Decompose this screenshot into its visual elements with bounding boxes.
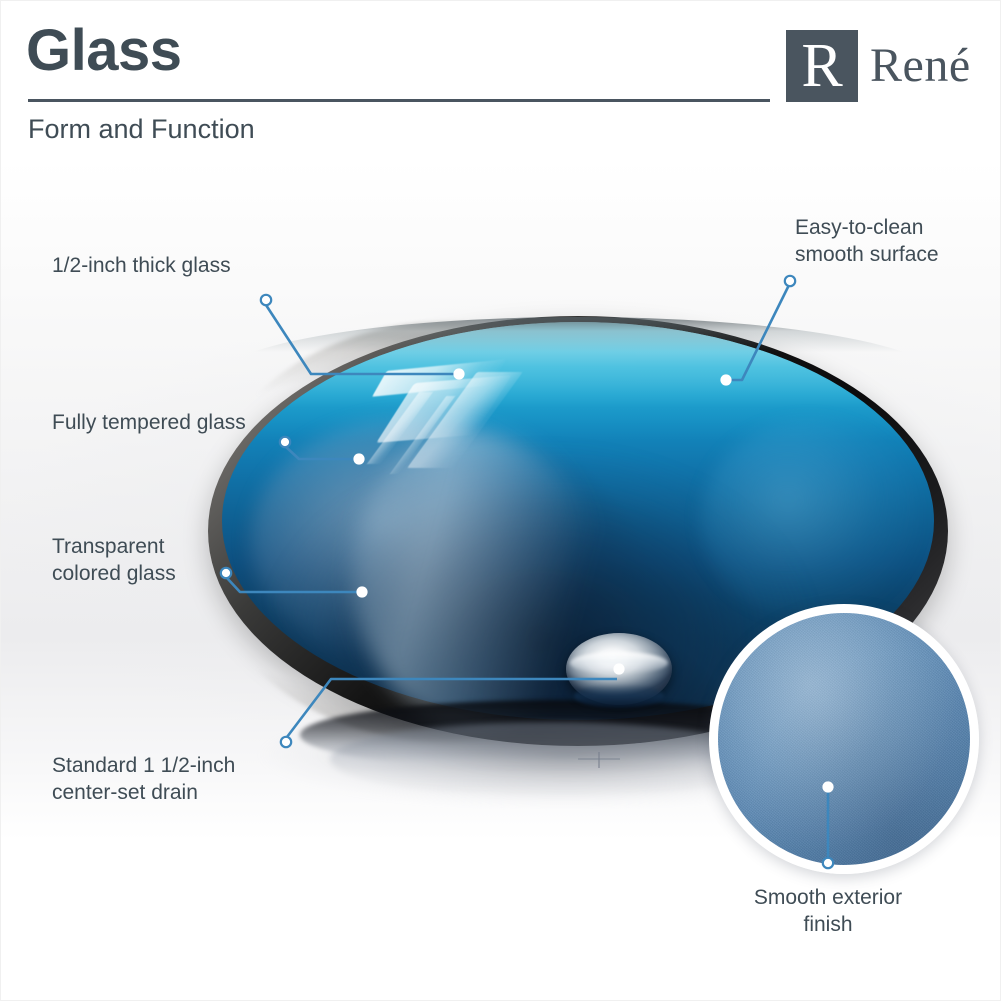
callout-label-transparent-colored-glass: Transparent colored glass (52, 533, 176, 588)
leader-thick-glass (261, 295, 465, 380)
leader-transparent-glass (221, 568, 368, 598)
callout-label-tempered-glass: Fully tempered glass (52, 409, 246, 436)
leader-center-set-drain (281, 663, 625, 747)
callout-label-smooth-exterior: Smooth exterior finish (716, 884, 940, 939)
callout-layer: 1/2-inch thick glass Fully tempered glas… (0, 0, 1001, 1001)
infographic-page: Glass Form and Function R René (0, 0, 1001, 1001)
callout-label-thick-glass: 1/2-inch thick glass (52, 252, 231, 279)
leader-easy-to-clean (720, 276, 795, 386)
callout-label-center-set-drain: Standard 1 1/2-inch center-set drain (52, 752, 235, 807)
leader-tempered-glass (280, 437, 365, 465)
leader-lines (0, 0, 1001, 1001)
callout-label-easy-to-clean: Easy-to-clean smooth surface (795, 214, 939, 269)
leader-smooth-exterior (822, 781, 833, 868)
